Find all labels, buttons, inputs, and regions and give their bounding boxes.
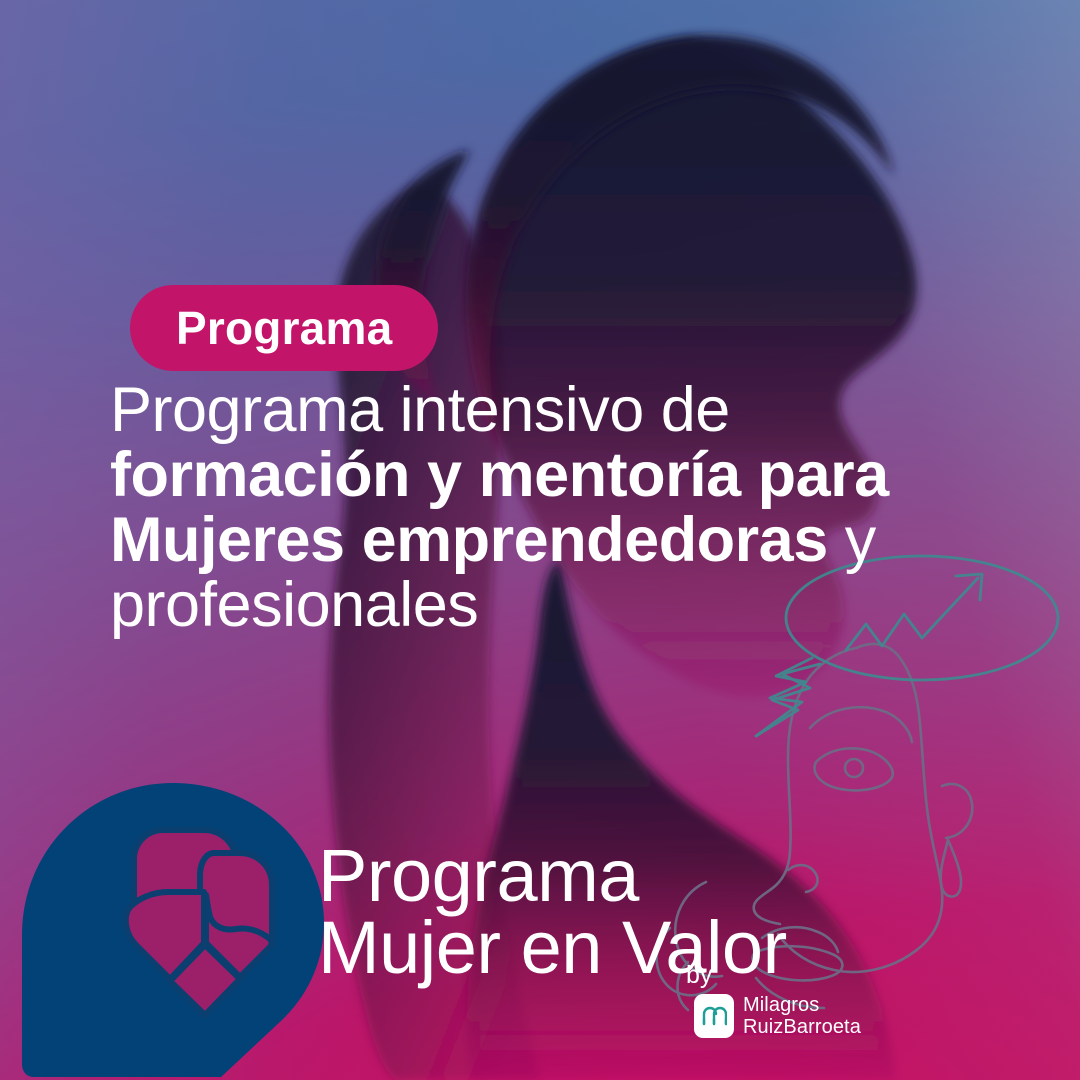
headline-line-2: formación y mentoría para [110,443,1010,508]
poster-canvas: Programa Programa intensivo de formación… [0,0,1080,1080]
author-name-line-1: Milagros [743,994,861,1016]
headline-line-4: profesionales [110,573,1010,638]
brand-line-2: Mujer en Valor [318,912,787,984]
headline-line-3-light: y [828,505,876,575]
milagros-monogram-icon [694,994,734,1038]
headline-line-3-bold: Mujeres emprendedoras [110,505,828,575]
headline: Programa intensivo de formación y mentor… [110,378,1010,638]
author-name: Milagros RuizBarroeta [743,994,861,1039]
programa-badge[interactable]: Programa [130,285,438,371]
by-label: by [686,963,712,988]
headline-line-1: Programa intensivo de [110,378,1010,443]
author-name-line-2: RuizBarroeta [743,1016,861,1038]
author-signature[interactable]: Milagros RuizBarroeta [694,994,861,1039]
fist-in-pin-logo [18,775,348,1080]
programa-badge-label: Programa [176,305,392,351]
brand-line-1: Programa [318,840,787,912]
headline-line-3: Mujeres emprendedoras y [110,508,1010,573]
brand-wordmark: Programa Mujer en Valor [318,840,787,984]
